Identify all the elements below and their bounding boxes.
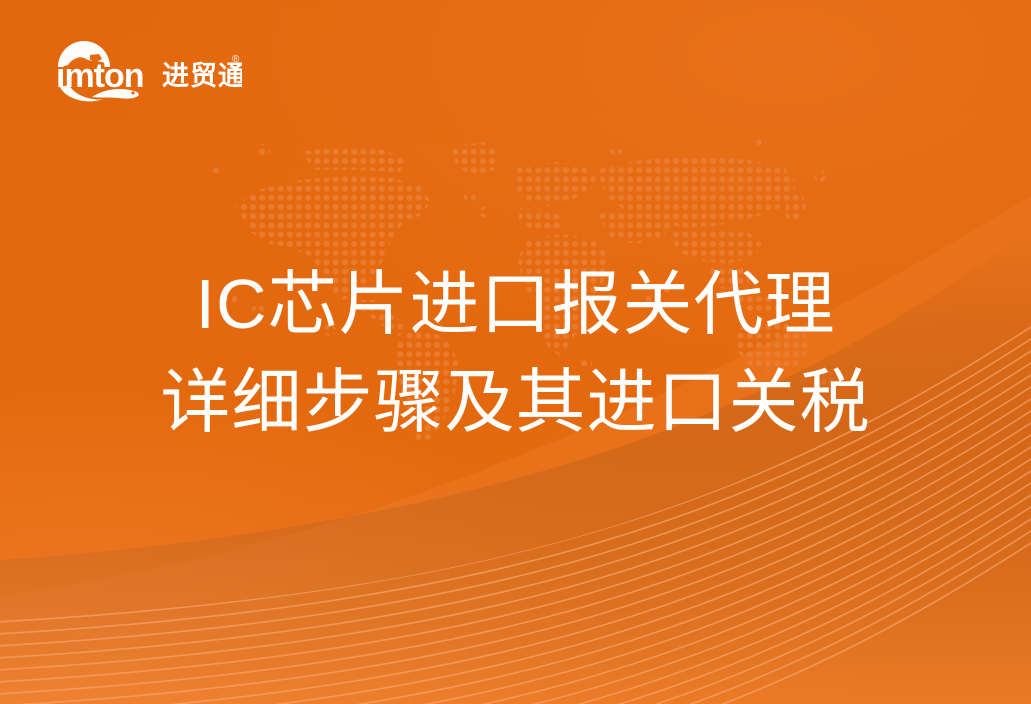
headline-line-1: IC芯片进口报关代理 xyxy=(0,256,1031,352)
registered-mark: ® xyxy=(232,54,240,65)
brand-logo[interactable]: imton 进贸通 ® xyxy=(42,27,242,103)
logo-chinese-name: 进贸通 xyxy=(162,61,242,91)
logo-wordmark: imton xyxy=(56,57,144,95)
promo-banner: imton 进贸通 ® IC芯片进口报关代理 详细步骤及其进口关税 xyxy=(0,0,1031,704)
headline-line-2: 详细步骤及其进口关税 xyxy=(0,352,1031,452)
headline-block: IC芯片进口报关代理 详细步骤及其进口关税 xyxy=(0,256,1031,452)
